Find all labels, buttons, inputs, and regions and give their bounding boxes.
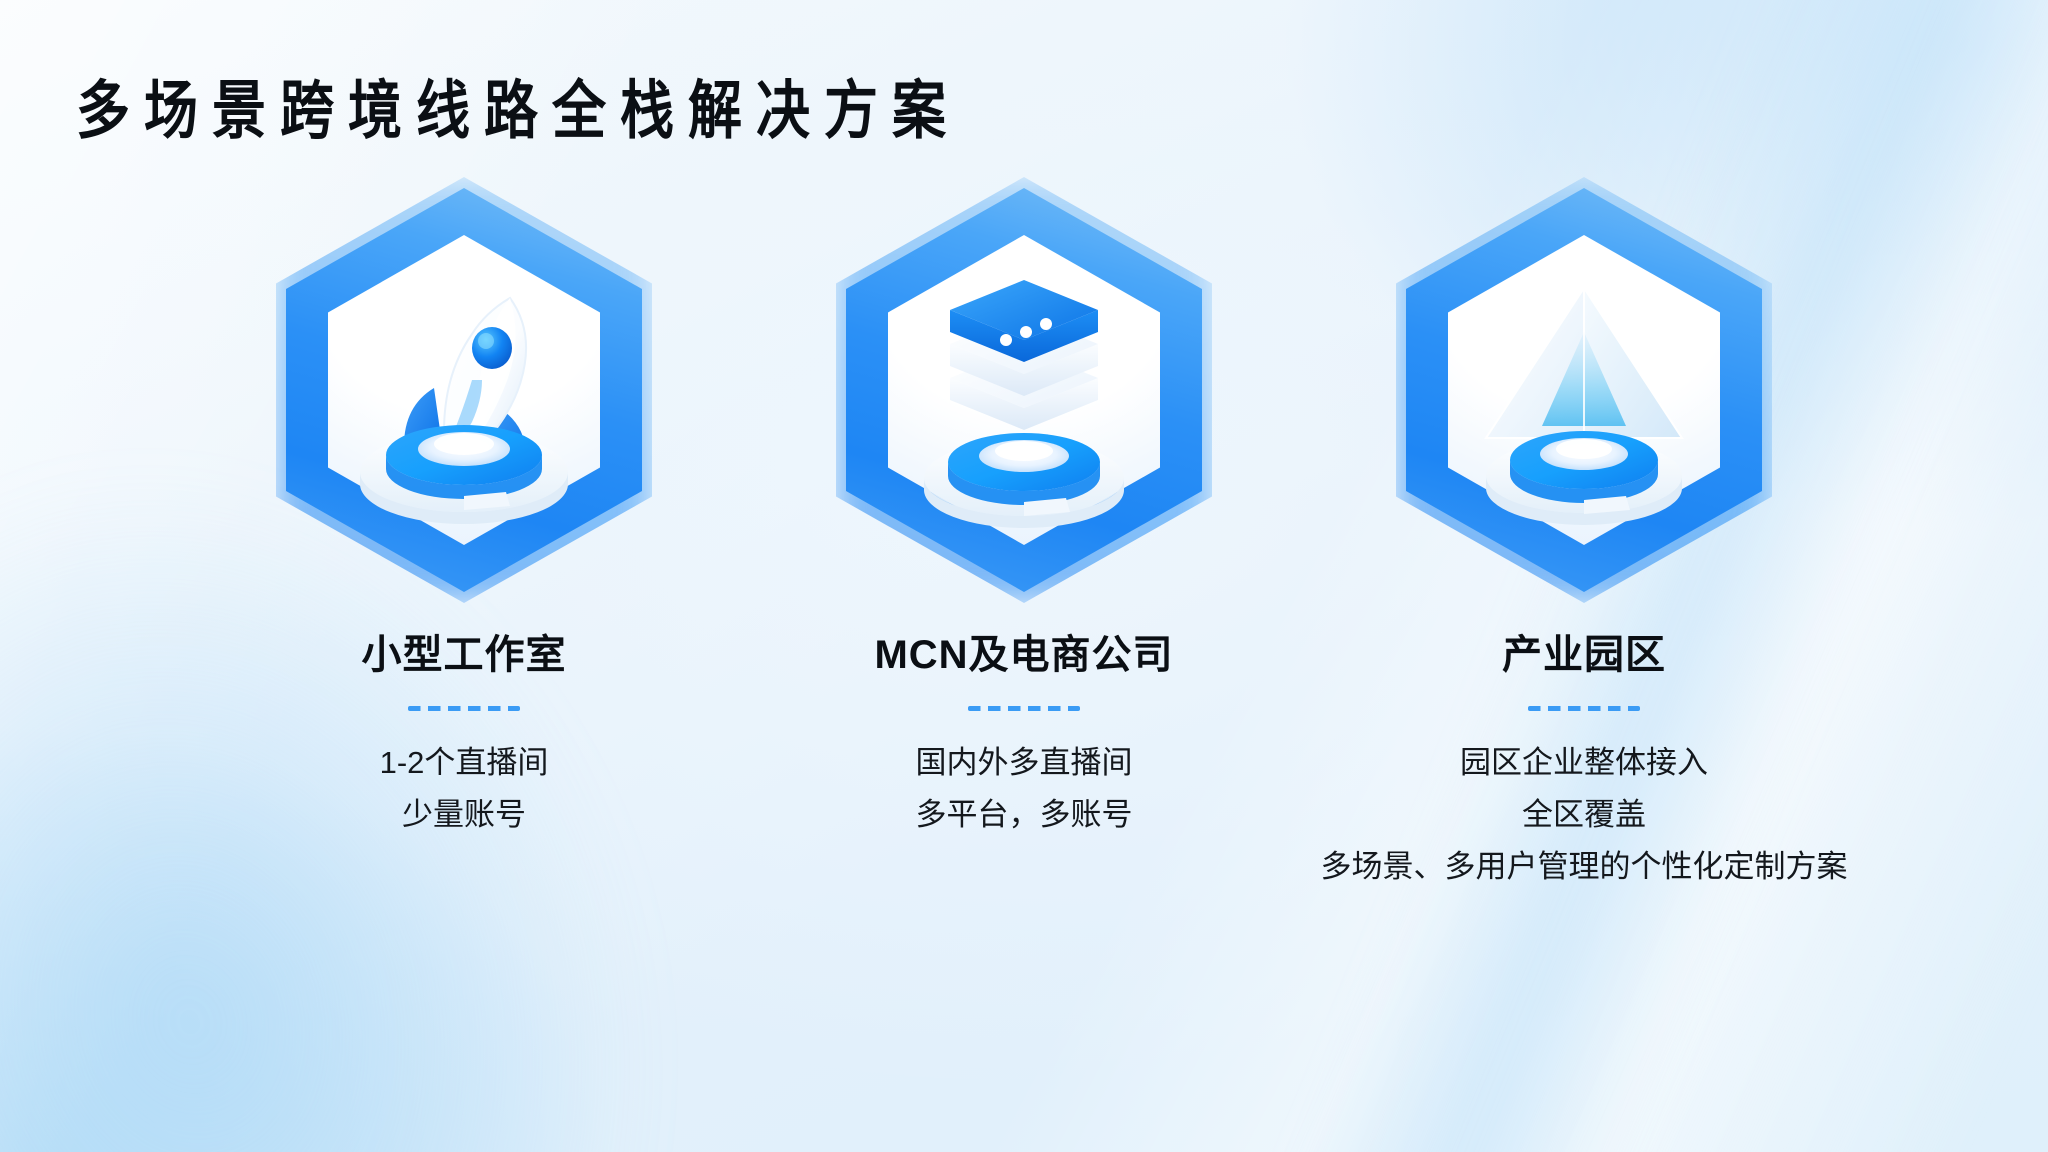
- rocket-icon: [314, 240, 614, 540]
- card-line: 多平台，多账号: [916, 789, 1133, 841]
- card-line: 全区覆盖: [1321, 789, 1848, 841]
- page-title: 多场景跨境线路全栈解决方案: [76, 58, 960, 151]
- scenario-card-small-studio[interactable]: 小型工作室 1-2个直播间 少量账号: [184, 180, 744, 841]
- card-line: 少量账号: [380, 789, 549, 841]
- card-line: 园区企业整体接入: [1321, 737, 1848, 789]
- card-description: 国内外多直播间 多平台，多账号: [916, 737, 1133, 841]
- card-divider: [408, 706, 520, 711]
- server-stack-hexagon-icon: [834, 180, 1214, 600]
- scenario-card-list: 小型工作室 1-2个直播间 少量账号: [0, 180, 2048, 893]
- pyramid-hexagon-icon: [1394, 180, 1774, 600]
- card-divider: [968, 706, 1080, 711]
- card-title: 小型工作室: [362, 622, 567, 680]
- card-line: 多场景、多用户管理的个性化定制方案: [1321, 841, 1848, 893]
- card-description: 园区企业整体接入 全区覆盖 多场景、多用户管理的个性化定制方案: [1321, 737, 1848, 893]
- slide-canvas: 多场景跨境线路全栈解决方案: [0, 0, 2048, 1152]
- card-description: 1-2个直播间 少量账号: [380, 737, 549, 841]
- card-line: 1-2个直播间: [380, 737, 549, 789]
- card-divider: [1528, 706, 1640, 711]
- scenario-card-mcn-ecommerce[interactable]: MCN及电商公司 国内外多直播间 多平台，多账号: [744, 180, 1304, 841]
- card-title: MCN及电商公司: [874, 622, 1173, 680]
- rocket-hexagon-icon: [274, 180, 654, 600]
- card-line: 国内外多直播间: [916, 737, 1133, 789]
- pyramid-icon: [1434, 240, 1734, 540]
- scenario-card-industrial-park[interactable]: 产业园区 园区企业整体接入 全区覆盖 多场景、多用户管理的个性化定制方案: [1304, 180, 1864, 893]
- card-title: 产业园区: [1502, 622, 1666, 680]
- server-stack-icon: [874, 240, 1174, 540]
